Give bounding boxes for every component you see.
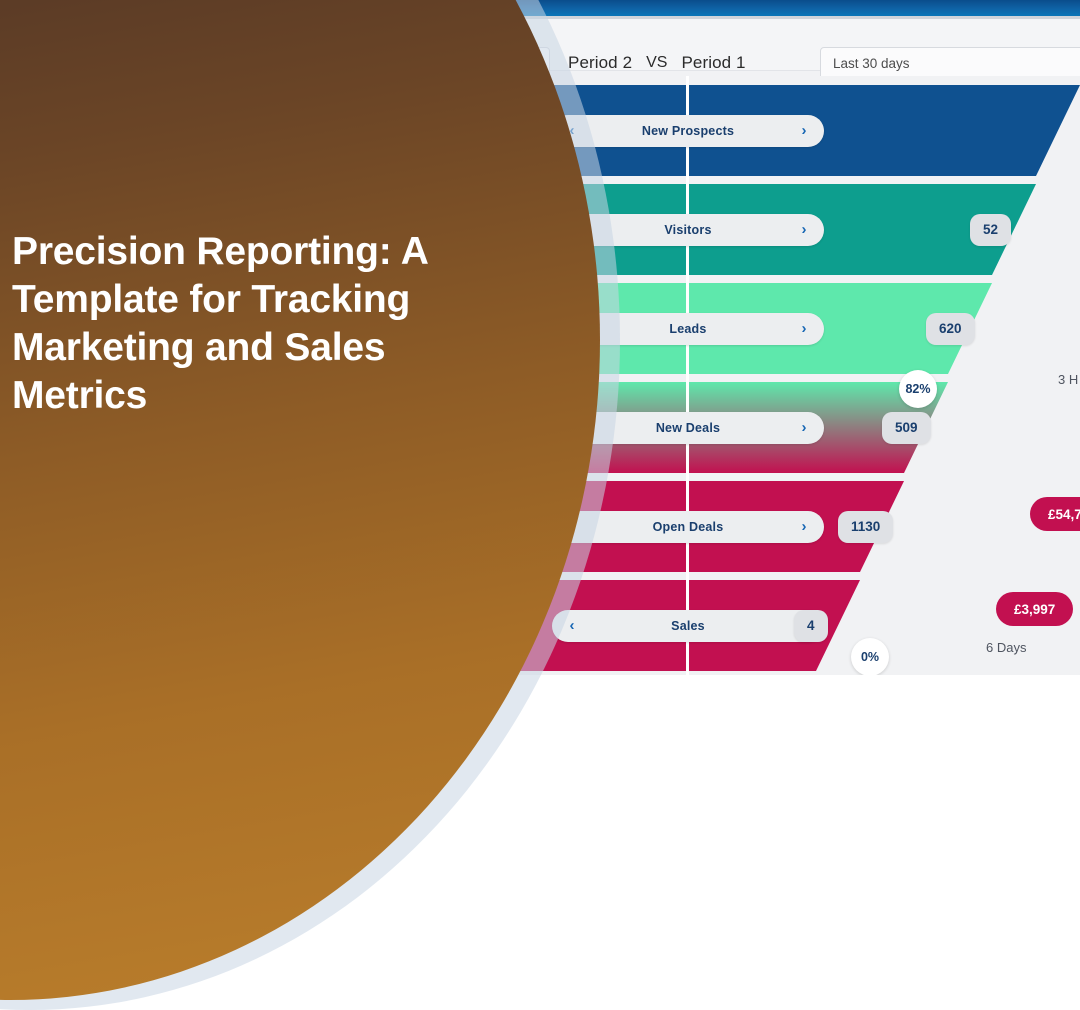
- date-range-value: Last 30 days: [833, 56, 910, 71]
- funnel-stage-label: Visitors: [664, 223, 711, 237]
- chevron-right-icon[interactable]: ›: [796, 123, 812, 139]
- stage-duration-label: 6 Days: [986, 640, 1026, 655]
- application-window: Period 2 VS Period 1 Last 30 days ‹New P…: [0, 0, 1080, 675]
- funnel-center-divider: [686, 76, 689, 675]
- funnel-band[interactable]: [0, 283, 1080, 374]
- funnel-band[interactable]: [0, 481, 1080, 572]
- chevron-left-icon[interactable]: ‹: [564, 519, 580, 535]
- funnel-band[interactable]: [0, 85, 1080, 176]
- conversion-rate-badge: 82%: [899, 370, 937, 408]
- funnel-stage-open-deals[interactable]: ‹Open Deals›: [552, 511, 824, 543]
- search-input[interactable]: [422, 47, 550, 79]
- period-comparison-group: Period 2 VS Period 1: [568, 48, 746, 78]
- funnel-stage-sales[interactable]: ‹Sales›: [552, 610, 824, 642]
- funnel-stage-label: Open Deals: [653, 520, 724, 534]
- funnel-count-badge: 620: [926, 313, 975, 345]
- funnel-stage-new-deals[interactable]: ‹New Deals›: [552, 412, 824, 444]
- conversion-rate-badge: 0%: [851, 638, 889, 675]
- funnel-stage-label: Leads: [669, 322, 706, 336]
- funnel-stage-label: Sales: [671, 619, 705, 633]
- funnel-count-badge: 1130: [838, 511, 893, 543]
- stage-value-pill: £3,997: [996, 592, 1073, 626]
- stage-duration-label: 3 H: [1058, 372, 1078, 387]
- period-current-label[interactable]: Period 2: [568, 53, 632, 73]
- chevron-right-icon[interactable]: ›: [796, 519, 812, 535]
- funnel-stage-leads[interactable]: ‹Leads›: [552, 313, 824, 345]
- funnel-count-badge: 4: [794, 610, 828, 642]
- funnel-count-badge: 509: [882, 412, 931, 444]
- funnel-stage-new-prospects[interactable]: ‹New Prospects›: [552, 115, 824, 147]
- chevron-left-icon[interactable]: ‹: [564, 123, 580, 139]
- funnel-stage-visitors[interactable]: ‹Visitors›: [552, 214, 824, 246]
- chevron-right-icon[interactable]: ›: [796, 321, 812, 337]
- funnel-chart: ‹New Prospects›‹Visitors›‹Leads›‹New Dea…: [0, 76, 1080, 675]
- period-previous-label[interactable]: Period 1: [681, 53, 745, 73]
- chevron-left-icon[interactable]: ‹: [564, 321, 580, 337]
- chevron-right-icon[interactable]: ›: [796, 222, 812, 238]
- stage-value-pill: £54,7: [1030, 497, 1080, 531]
- funnel-band[interactable]: [0, 184, 1080, 275]
- funnel-count-badge: 52: [970, 214, 1011, 246]
- chevron-left-icon[interactable]: ‹: [564, 618, 580, 634]
- period-vs-label: VS: [646, 54, 667, 72]
- funnel-stage-label: New Prospects: [642, 124, 734, 138]
- browser-chrome-bar: [0, 0, 1080, 16]
- funnel-stage-label: New Deals: [656, 421, 720, 435]
- chevron-left-icon[interactable]: ‹: [564, 420, 580, 436]
- chevron-right-icon[interactable]: ›: [796, 420, 812, 436]
- chevron-left-icon[interactable]: ‹: [564, 222, 580, 238]
- funnel-band[interactable]: [0, 580, 1080, 671]
- report-toolbar: Period 2 VS Period 1 Last 30 days: [0, 19, 1080, 71]
